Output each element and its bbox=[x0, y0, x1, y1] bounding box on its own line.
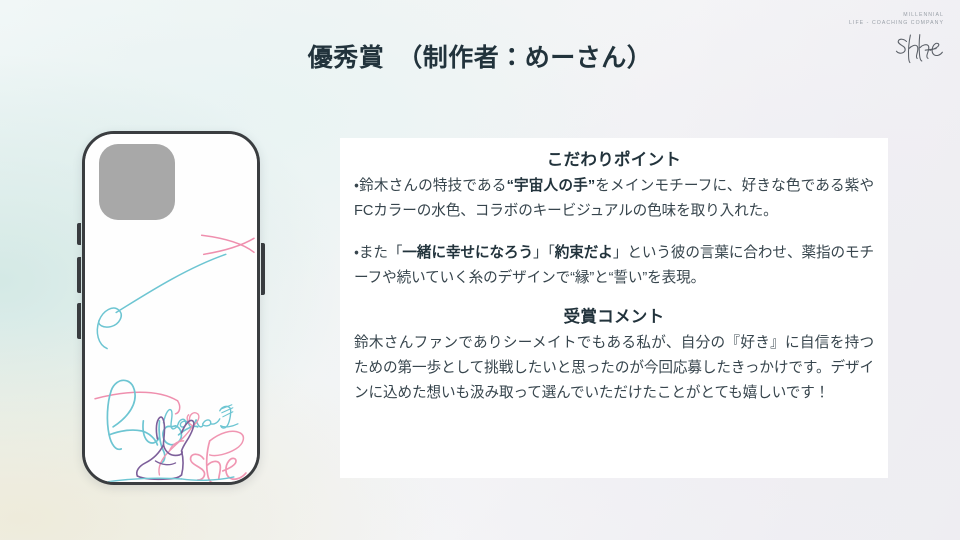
phone-case-mockup bbox=[82, 131, 260, 485]
dp2-bold-quote-1: 一緒に幸せになろう bbox=[402, 245, 533, 261]
slide-root: MILLENNIAL LIFE - COACHING COMPANY 優秀賞 （… bbox=[0, 0, 960, 540]
phone-power-button bbox=[261, 243, 265, 295]
page-title: 優秀賞 （制作者：めーさん） bbox=[0, 38, 960, 74]
phone-volume-down-button bbox=[77, 303, 81, 339]
dp2-bold-quote-2: 約束だよ bbox=[555, 245, 613, 261]
brand-line-tagline: LIFE - COACHING COMPANY bbox=[826, 19, 944, 27]
brand-line-millennial: MILLENNIAL bbox=[826, 11, 944, 19]
dp2-part-d: ・また「 bbox=[354, 245, 402, 261]
phone-volume-up-button bbox=[77, 257, 81, 293]
phone-mute-switch bbox=[77, 223, 81, 245]
content-panel: こだわりポイント ・鈴木さんの特技である“宇宙人の手”をメインモチーフに、好きな… bbox=[340, 138, 888, 478]
dp2-part-f: 」「 bbox=[533, 245, 555, 261]
paragraph-spacer bbox=[354, 224, 874, 241]
award-comment-paragraph: 鈴木さんファンでありシーメイトでもある私が、自分の『好き』に自信を持つための第一… bbox=[354, 331, 874, 406]
phone-back-surface bbox=[85, 134, 257, 482]
camera-module bbox=[99, 144, 175, 220]
phone-body bbox=[82, 131, 260, 485]
section-heading-design-points: こだわりポイント bbox=[354, 148, 874, 172]
section-spacer bbox=[354, 291, 874, 305]
dp1-part-a: ・鈴木さんの特技である bbox=[354, 178, 507, 194]
section-heading-award-comment: 受賞コメント bbox=[354, 305, 874, 329]
design-points-paragraph-2: ・また「一緒に幸せになろう」「約束だよ」という彼の言葉に合わせ、薬指のモチーフや… bbox=[354, 241, 874, 291]
design-points-paragraph-1: ・鈴木さんの特技である“宇宙人の手”をメインモチーフに、好きな色である紫やFCカ… bbox=[354, 174, 874, 224]
dp1-bold-alien-hand: “宇宙人の手” bbox=[507, 178, 595, 194]
